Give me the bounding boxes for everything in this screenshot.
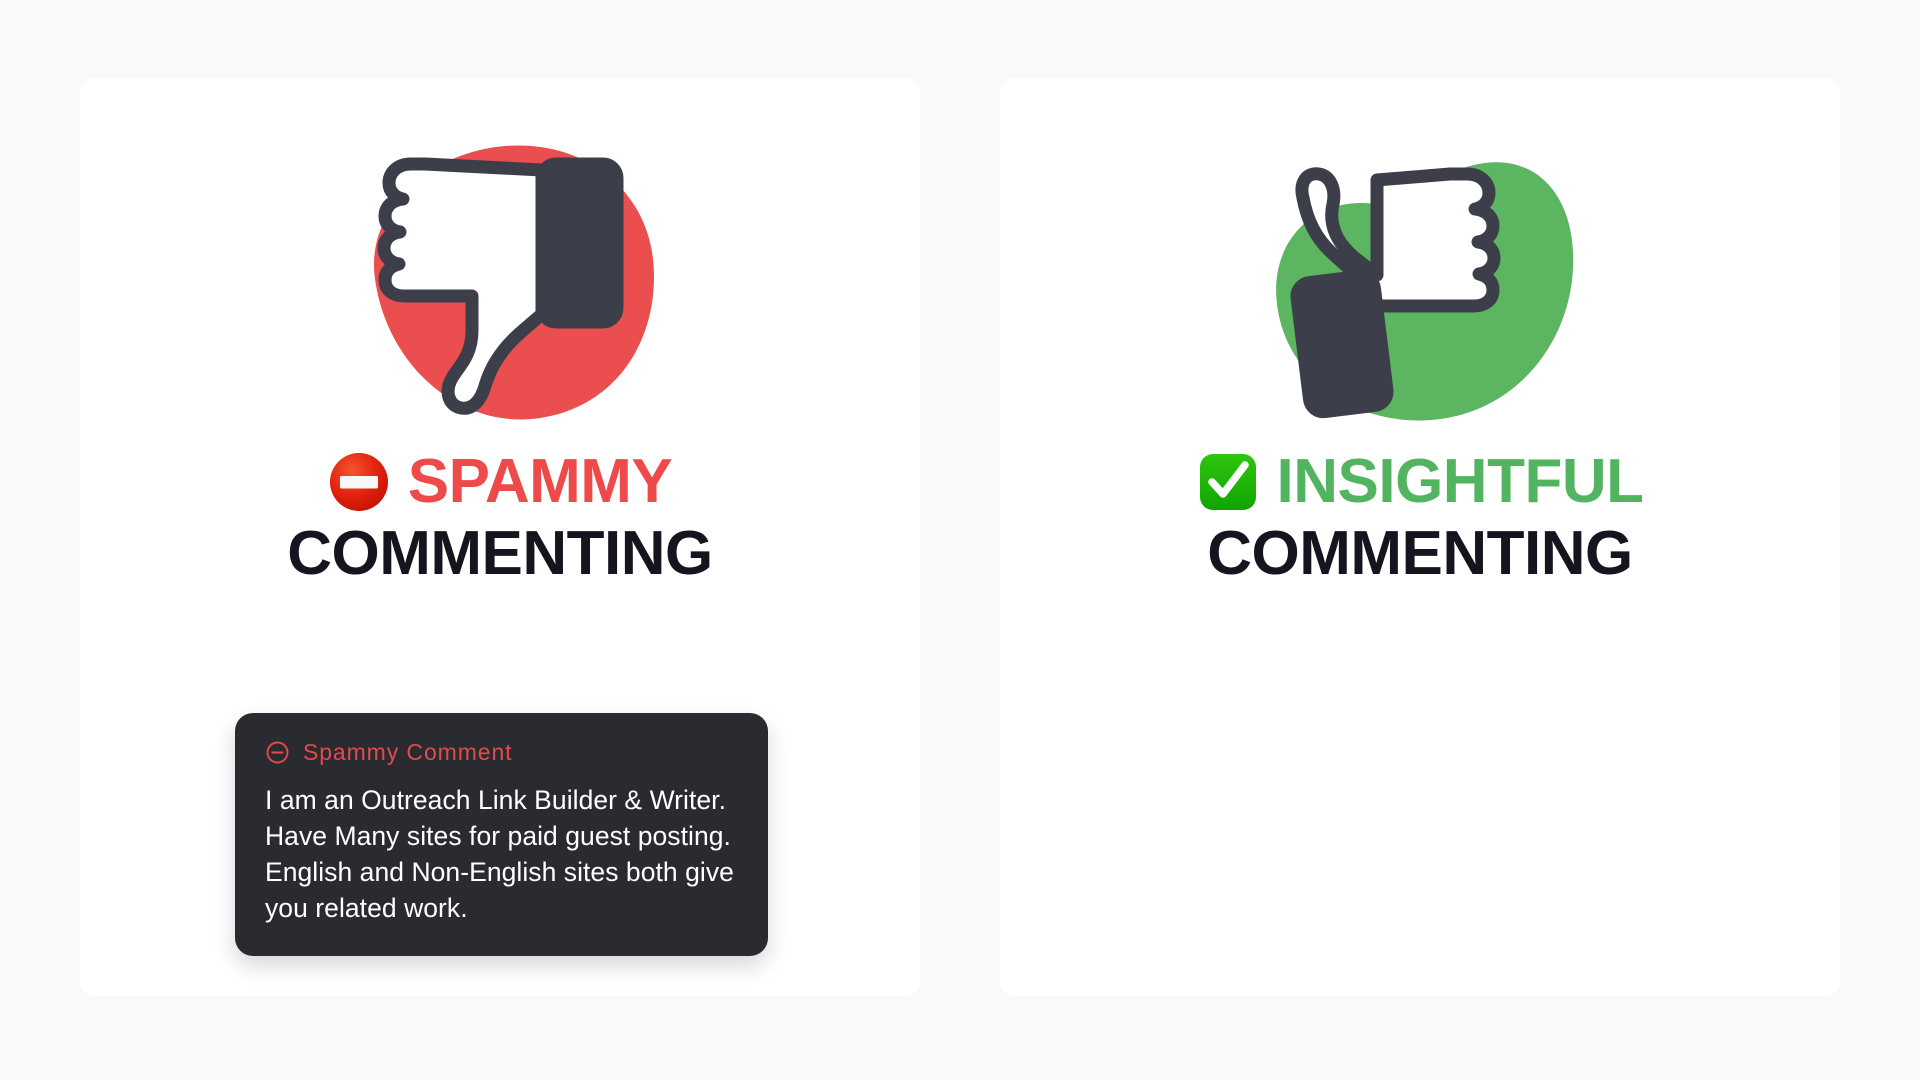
spammy-subtitle: COMMENTING [287,522,713,585]
thumbs-up-icon [1255,134,1585,434]
spammy-comment-box: Spammy Comment I am an Outreach Link Bui… [235,713,768,956]
spammy-verdict-text: SPAMMY [408,450,673,513]
insightful-subtitle: COMMENTING [1197,522,1644,585]
spammy-comment-text: I am an Outreach Link Builder & Writer. … [265,782,738,926]
spammy-card: SPAMMY COMMENTING Spammy Comment I am an… [80,78,920,996]
insightful-verdict-text: INSIGHTFUL [1277,450,1644,513]
circle-minus-icon [265,740,290,765]
insightful-card: INSIGHTFUL COMMENTING Insight Great tips… [1000,78,1840,996]
thumbs-down-icon [335,134,665,434]
spammy-comment-tag-label: Spammy Comment [303,739,512,766]
insightful-headline-row: INSIGHTFUL [1197,450,1644,513]
white-check-mark-emoji [1197,451,1259,513]
no-entry-emoji [328,451,390,513]
spammy-headline-row: SPAMMY [287,450,713,513]
comparison-canvas: SPAMMY COMMENTING Spammy Comment I am an… [0,0,1920,1080]
spammy-comment-tag: Spammy Comment [265,739,738,766]
spammy-headline: SPAMMY COMMENTING [287,450,713,585]
insightful-headline: INSIGHTFUL COMMENTING [1197,450,1644,585]
